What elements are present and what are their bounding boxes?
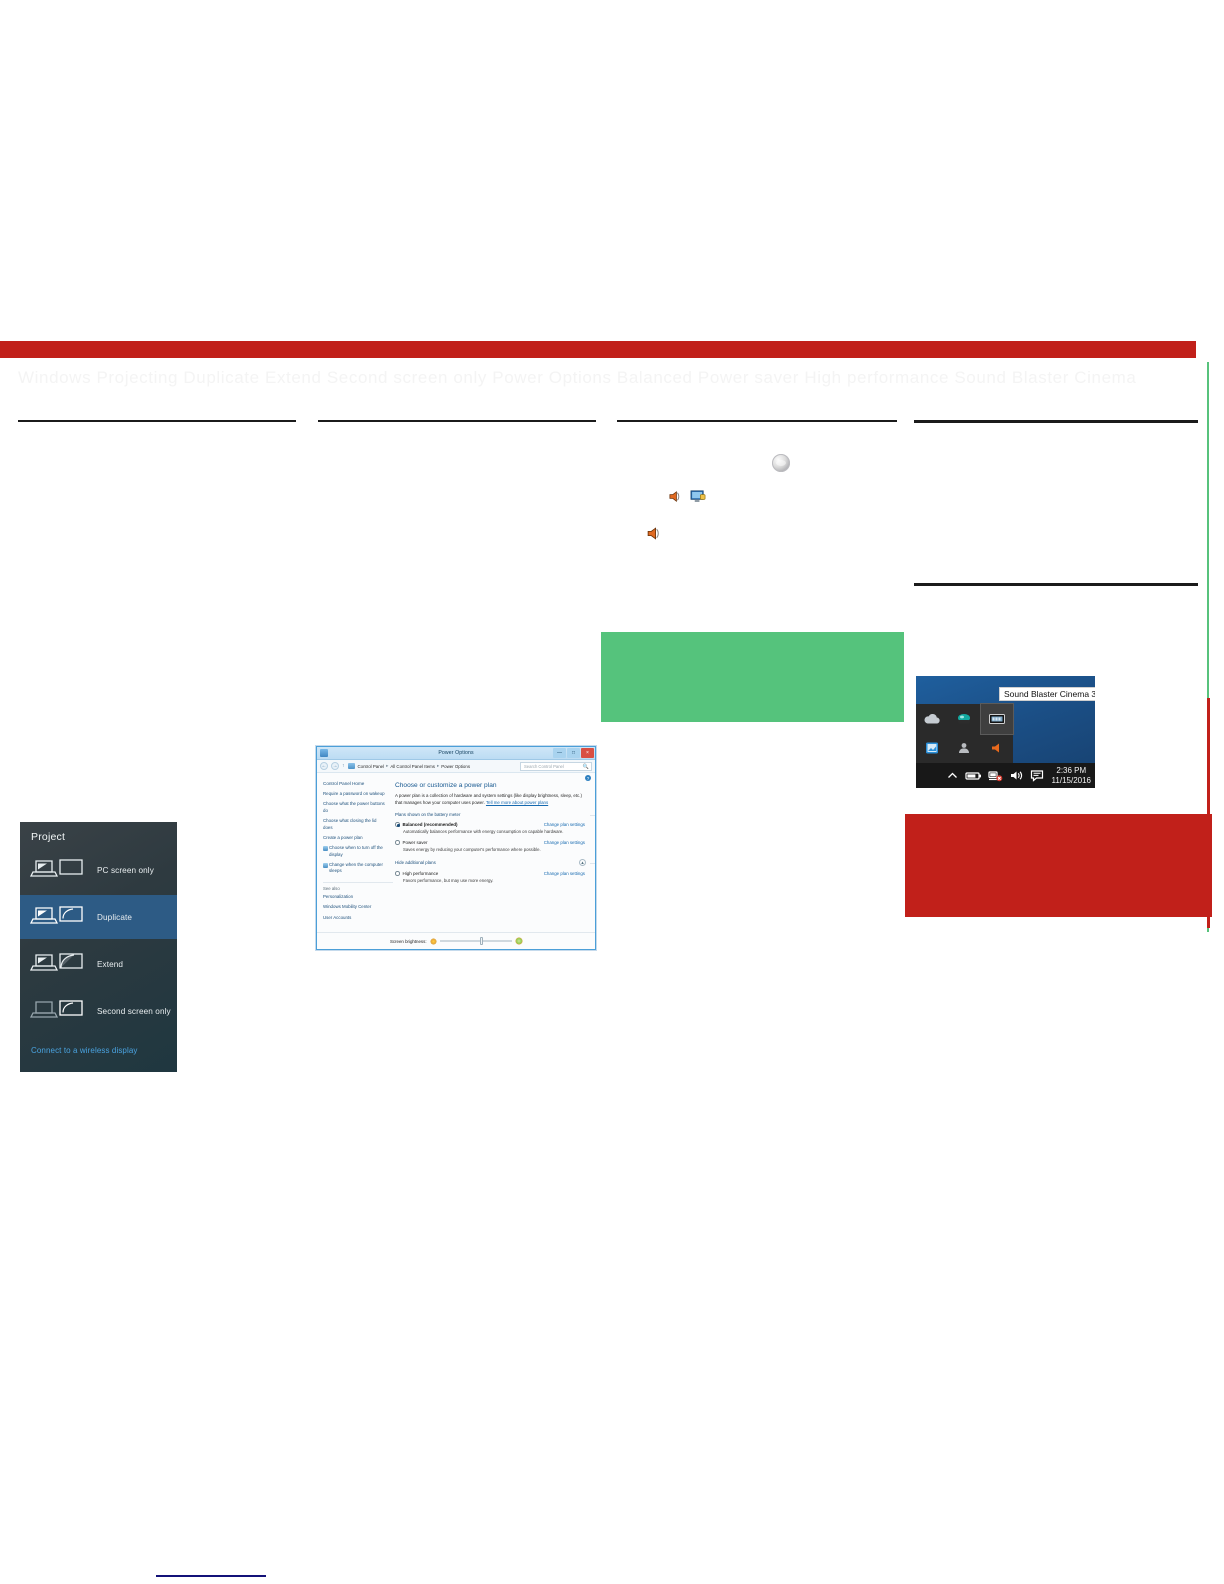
maximize-button[interactable]: □	[567, 748, 580, 758]
project-option-label: PC screen only	[97, 866, 154, 875]
breadcrumb-folder-icon	[348, 763, 355, 769]
tray-tooltip: Sound Blaster Cinema 3	[999, 687, 1095, 701]
sidebar-link-label: Change when the computer sleeps	[329, 862, 383, 873]
close-button[interactable]: ×	[581, 748, 594, 758]
page-title: Choose or customize a power plan	[395, 782, 587, 789]
project-option-label: Extend	[97, 960, 123, 969]
radio-high-performance[interactable]	[395, 871, 400, 876]
sidebar-link-turn-off-display[interactable]: Choose when to turn off the display	[323, 845, 385, 858]
show-hidden-icons-chevron[interactable]	[946, 769, 959, 782]
see-also-link-user-accounts[interactable]: User Accounts	[323, 915, 393, 921]
clock-date: 11/15/2016	[1052, 776, 1091, 785]
windows-taskbar[interactable]: 2:36 PM 11/15/2016	[916, 763, 1095, 788]
sound-blaster-cinema-icon[interactable]	[981, 704, 1013, 734]
laptop-and-mirrored-monitor-icon	[30, 902, 92, 932]
project-flyout-panel[interactable]: Project PC screen only	[20, 822, 177, 1072]
page-header-red-bar	[0, 341, 1196, 358]
up-button[interactable]: ↑	[342, 763, 345, 769]
breadcrumb-separator: ▸	[437, 763, 439, 769]
page-description: A power plan is a collection of hardware…	[395, 793, 587, 806]
project-panel-title: Project	[31, 831, 65, 843]
search-icon: 🔍	[583, 764, 591, 770]
search-placeholder: Search Control Panel	[524, 764, 564, 769]
brightness-slider-thumb[interactable]	[480, 937, 483, 945]
hide-additional-plans-row[interactable]: Hide additional plans ▴	[395, 860, 587, 865]
sidebar-link-closing-lid[interactable]: Choose what closing the lid does	[323, 818, 385, 831]
taskbar-clock[interactable]: 2:36 PM 11/15/2016	[1052, 766, 1091, 784]
breadcrumb-item-all-items[interactable]: All Control Panel Items	[390, 764, 435, 769]
breadcrumb-item-control-panel[interactable]: Control Panel	[358, 764, 385, 769]
plan-name-balanced: Balanced (recommended)	[403, 822, 458, 827]
project-option-label: Duplicate	[97, 913, 132, 922]
project-option-extend[interactable]: Extend	[20, 942, 177, 986]
see-also-link-personalization[interactable]: Personalization	[323, 894, 393, 900]
window-controls[interactable]: — □ ×	[553, 748, 594, 758]
laptop-and-extended-monitor-icon	[30, 949, 92, 979]
power-button-icon	[772, 454, 790, 472]
screen-brightness-bar[interactable]: Screen brightness:	[317, 932, 595, 949]
connect-wireless-display-link[interactable]: Connect to a wireless display	[31, 1046, 138, 1055]
sidebar-link-require-password[interactable]: Require a password on wakeup	[323, 791, 385, 797]
column-rule-4	[914, 420, 1198, 423]
back-button[interactable]: ←	[320, 762, 328, 770]
window-navigation-bar[interactable]: ← → ↑ Control Panel ▸ All Control Panel …	[317, 760, 595, 773]
control-panel-sidebar[interactable]: Control Panel Home Require a password on…	[317, 773, 389, 950]
shield-icon	[323, 846, 328, 851]
dimmed-laptop-and-monitor-icon	[30, 996, 92, 1026]
screen-brightness-label: Screen brightness:	[390, 939, 427, 944]
window-body: Control Panel Home Require a password on…	[317, 773, 595, 950]
action-center-icon[interactable]	[1030, 769, 1044, 782]
network-icon-disconnected[interactable]	[988, 769, 1003, 782]
change-plan-settings-balanced[interactable]: Change plan settings	[544, 822, 585, 827]
tray-overflow-flyout[interactable]	[916, 704, 1013, 763]
sidebar-link-power-buttons[interactable]: Choose what the power buttons do	[323, 801, 385, 814]
clock-time: 2:36 PM	[1052, 766, 1091, 775]
plan-name-power-saver: Power saver	[403, 840, 428, 845]
plan-row-balanced[interactable]: Balanced (recommended) Automatically bal…	[395, 822, 587, 834]
volume-icon[interactable]	[1009, 769, 1024, 782]
project-option-pc-screen-only[interactable]: PC screen only	[20, 848, 177, 892]
footnote-separator	[156, 1575, 266, 1577]
plan-row-power-saver[interactable]: Power saver Saves energy by reducing you…	[395, 840, 587, 852]
project-option-label: Second screen only	[97, 1007, 171, 1016]
radio-balanced[interactable]	[395, 822, 400, 827]
window-title-bar: Power Options — □ ×	[317, 747, 595, 760]
see-also-section: See also Personalization Windows Mobilit…	[323, 882, 393, 925]
hide-additional-plans-label: Hide additional plans	[395, 860, 587, 865]
breadcrumb-separator: ▸	[386, 763, 388, 769]
plan-desc-high-performance: Favors performance, but may use more ene…	[403, 878, 587, 883]
plan-desc-balanced: Automatically balances performance with …	[403, 829, 587, 834]
onedrive-cloud-icon[interactable]	[916, 704, 948, 734]
grey-person-icon[interactable]	[948, 734, 980, 764]
column-rule-4-secondary	[914, 583, 1198, 586]
plans-group-label: Plans shown on the battery meter	[395, 812, 587, 817]
radio-power-saver[interactable]	[395, 840, 400, 845]
red-image-placeholder	[905, 814, 1212, 917]
brightness-low-icon	[431, 939, 436, 944]
volume-speaker-icon	[646, 525, 663, 542]
tell-me-more-link[interactable]: Tell me more about power plans	[486, 800, 548, 805]
orange-speaker-icon[interactable]	[981, 734, 1013, 764]
column-rule-3	[617, 420, 897, 422]
project-option-second-screen-only[interactable]: Second screen only	[20, 989, 177, 1033]
see-also-heading: See also	[323, 886, 393, 891]
plan-name-high-performance: High performance	[403, 871, 439, 876]
column-rule-2	[318, 420, 596, 422]
laptop-and-blank-monitor-icon	[30, 855, 92, 885]
blue-app-icon[interactable]	[916, 734, 948, 764]
manual-page: Windows Projecting Duplicate Extend Seco…	[0, 0, 1224, 1584]
plan-desc-power-saver: Saves energy by reducing your computer's…	[403, 847, 587, 852]
volume-speaker-icon	[668, 489, 683, 504]
change-plan-settings-high-performance[interactable]: Change plan settings	[544, 871, 585, 876]
shield-icon	[323, 863, 328, 868]
breadcrumb[interactable]: Control Panel ▸ All Control Panel Items …	[358, 763, 471, 769]
brightness-slider[interactable]	[440, 940, 512, 942]
sidebar-link-computer-sleeps[interactable]: Change when the computer sleeps	[323, 862, 385, 875]
green-image-placeholder	[601, 632, 904, 722]
plan-row-high-performance[interactable]: High performance Favors performance, but…	[395, 871, 587, 883]
display-monitor-icon	[690, 489, 707, 504]
system-tray-screenshot: Sound Blaster Cinema 3	[916, 676, 1095, 788]
power-plan-content: ? Choose or customize a power plan A pow…	[389, 773, 595, 950]
brightness-high-icon	[516, 938, 523, 945]
minimize-button[interactable]: —	[553, 748, 566, 758]
battery-icon[interactable]	[965, 769, 982, 782]
search-input[interactable]: Search Control Panel 🔍	[520, 762, 592, 771]
breadcrumb-item-power-options[interactable]: Power Options	[441, 764, 470, 769]
teal-headset-icon[interactable]	[948, 704, 980, 734]
forward-button[interactable]: →	[331, 762, 339, 770]
change-plan-settings-power-saver[interactable]: Change plan settings	[544, 840, 585, 845]
power-options-window[interactable]: Power Options — □ × ← → ↑ Control Panel …	[316, 746, 596, 950]
help-icon[interactable]: ?	[585, 775, 591, 781]
sidebar-heading[interactable]: Control Panel Home	[323, 781, 385, 786]
ghost-watermark-text: Windows Projecting Duplicate Extend Seco…	[18, 368, 1188, 390]
see-also-link-mobility-center[interactable]: Windows Mobility Center	[323, 904, 393, 910]
column-rule-1	[18, 420, 296, 422]
sidebar-link-create-plan[interactable]: Create a power plan	[323, 835, 385, 841]
project-option-duplicate[interactable]: Duplicate	[20, 895, 177, 939]
sidebar-link-label: Choose when to turn off the display	[329, 845, 383, 856]
